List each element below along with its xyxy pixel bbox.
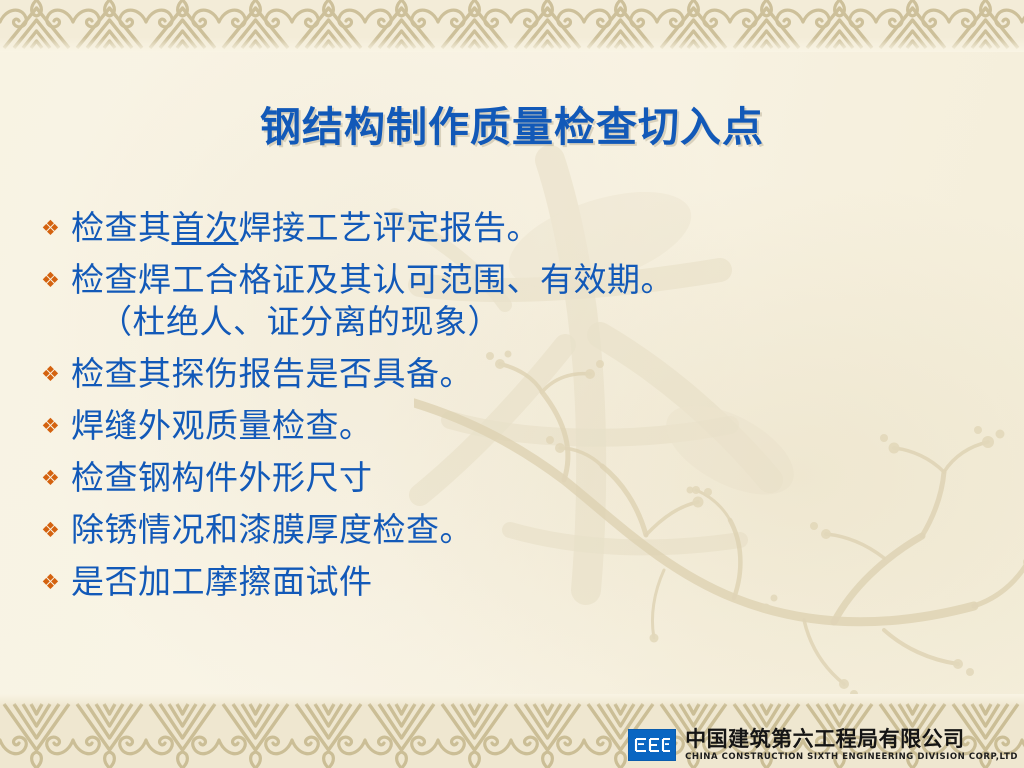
bullet-item-6: ❖ 除锈情况和漆膜厚度检查。 <box>38 508 988 552</box>
bullet-item-1: ❖ 检查其首次焊接工艺评定报告。 <box>38 206 988 250</box>
bullet-2-pre: 检查焊工合格证及其认可范围、有效期。 <box>71 260 674 299</box>
diamond-bullet-icon: ❖ <box>38 258 71 302</box>
bullet-1-underlined: 首次 <box>172 208 239 247</box>
diamond-bullet-icon: ❖ <box>38 508 71 552</box>
bullet-item-1-text: 检查其首次焊接工艺评定报告。 <box>71 206 988 250</box>
diamond-bullet-icon: ❖ <box>38 560 71 604</box>
cscec-logo-icon <box>628 729 676 761</box>
bullet-item-3: ❖ 检查其探伤报告是否具备。 <box>38 352 988 396</box>
bullet-1-post: 焊接工艺评定报告。 <box>239 208 541 247</box>
bullet-item-4: ❖ 焊缝外观质量检查。 <box>38 404 988 448</box>
top-ornamental-border <box>0 0 1024 52</box>
bullet-1-pre: 检查其 <box>71 208 172 247</box>
bullet-item-7-text: 是否加工摩擦面试件 <box>71 560 988 604</box>
slide-canvas: 钢结构制作质量检查切入点 ❖ 检查其首次焊接工艺评定报告。 ❖ 检查焊工合格证及… <box>0 0 1024 768</box>
diamond-bullet-icon: ❖ <box>38 352 71 396</box>
bullet-item-7: ❖ 是否加工摩擦面试件 <box>38 560 988 604</box>
diamond-bullet-icon: ❖ <box>38 206 71 250</box>
footer-text-block: 中国建筑第六工程局有限公司 CHINA CONSTRUCTION SIXTH E… <box>685 728 1018 762</box>
bullet-item-3-text: 检查其探伤报告是否具备。 <box>71 352 988 396</box>
bullet-item-2: ❖ 检查焊工合格证及其认可范围、有效期。（杜绝人、证分离的现象） <box>38 258 988 344</box>
bullet-item-4-text: 焊缝外观质量检查。 <box>71 404 988 448</box>
bullet-item-6-text: 除锈情况和漆膜厚度检查。 <box>71 508 988 552</box>
bullet-list: ❖ 检查其首次焊接工艺评定报告。 ❖ 检查焊工合格证及其认可范围、有效期。（杜绝… <box>38 206 988 612</box>
footer-branding: 中国建筑第六工程局有限公司 CHINA CONSTRUCTION SIXTH E… <box>628 728 1018 762</box>
diamond-bullet-icon: ❖ <box>38 404 71 448</box>
company-name-en: CHINA CONSTRUCTION SIXTH ENGINEERING DIV… <box>685 753 1018 762</box>
diamond-bullet-icon: ❖ <box>38 456 71 500</box>
company-name-cn: 中国建筑第六工程局有限公司 <box>685 728 965 750</box>
bullet-item-5-text: 检查钢构件外形尺寸 <box>71 456 988 500</box>
bullet-item-2-text: 检查焊工合格证及其认可范围、有效期。（杜绝人、证分离的现象） <box>71 258 988 344</box>
bullet-item-5: ❖ 检查钢构件外形尺寸 <box>38 456 988 500</box>
slide-title: 钢结构制作质量检查切入点 <box>0 93 1024 153</box>
bullet-2-sub: （杜绝人、证分离的现象） <box>71 300 988 344</box>
